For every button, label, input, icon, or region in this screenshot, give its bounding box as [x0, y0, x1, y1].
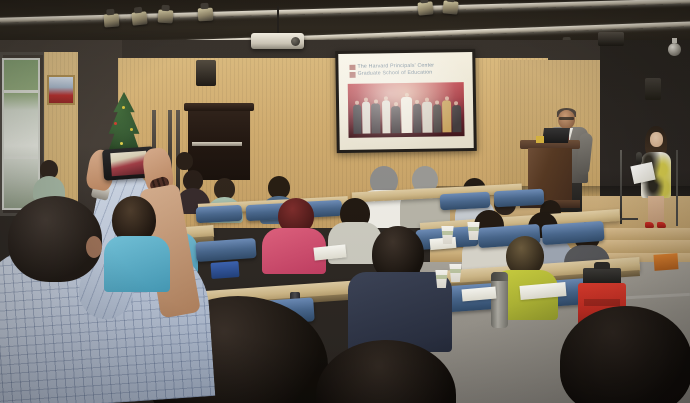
dome-camera-icon: [668, 43, 681, 56]
wall-loudspeaker: [196, 60, 216, 86]
stage-step: [596, 228, 690, 240]
lecture-hall-photo: The Harvard Principals' Center Graduate …: [0, 0, 690, 403]
auditorium-seat[interactable]: [494, 189, 545, 208]
microphone-stand: [620, 150, 622, 224]
auditorium-seat[interactable]: [195, 238, 256, 262]
child-torso: [104, 236, 170, 292]
host-red-heel: [645, 222, 654, 228]
spotlight-icon: [131, 11, 147, 25]
spotlight-icon: [104, 13, 120, 27]
screen-surface: The Harvard Principals' Center Graduate …: [338, 52, 473, 150]
speaker-glasses-icon: [559, 117, 574, 120]
thermos-flask: [491, 272, 508, 328]
spotlight-icon: [442, 0, 458, 14]
laptop-on-lectern: [542, 128, 570, 143]
wall-loudspeaker: [598, 32, 624, 46]
spotlight-icon: [198, 8, 214, 22]
framed-wall-poster: [47, 75, 75, 105]
projection-screen: The Harvard Principals' Center Graduate …: [335, 49, 477, 153]
photographer-ear: [86, 236, 102, 258]
ceiling-projector: [251, 33, 304, 49]
slide-group-photo: [348, 82, 465, 138]
lectern-plaque: [536, 136, 544, 143]
host-legs: [648, 196, 664, 224]
tripod-stand: [676, 150, 678, 226]
handheld-microphone: [636, 152, 642, 164]
host-face: [650, 132, 663, 147]
auditorium-seat[interactable]: [440, 192, 491, 211]
projector-mount-pole: [277, 6, 279, 36]
slide-title-block: The Harvard Principals' Center Graduate …: [347, 62, 466, 78]
spotlight-icon: [158, 9, 174, 23]
slide-title-line-2: Graduate School of Education: [348, 69, 467, 78]
orange-box-item: [653, 253, 678, 271]
audience-head: [176, 152, 193, 170]
wall-loudspeaker: [645, 78, 661, 100]
spotlight-icon: [417, 1, 433, 15]
blue-box-item: [210, 261, 239, 279]
host-red-heel: [657, 222, 666, 228]
audience-torso: [348, 272, 452, 352]
upright-piano: [188, 106, 250, 180]
auditorium-seat[interactable]: [196, 205, 243, 223]
audience-head-foreground: [560, 306, 690, 403]
